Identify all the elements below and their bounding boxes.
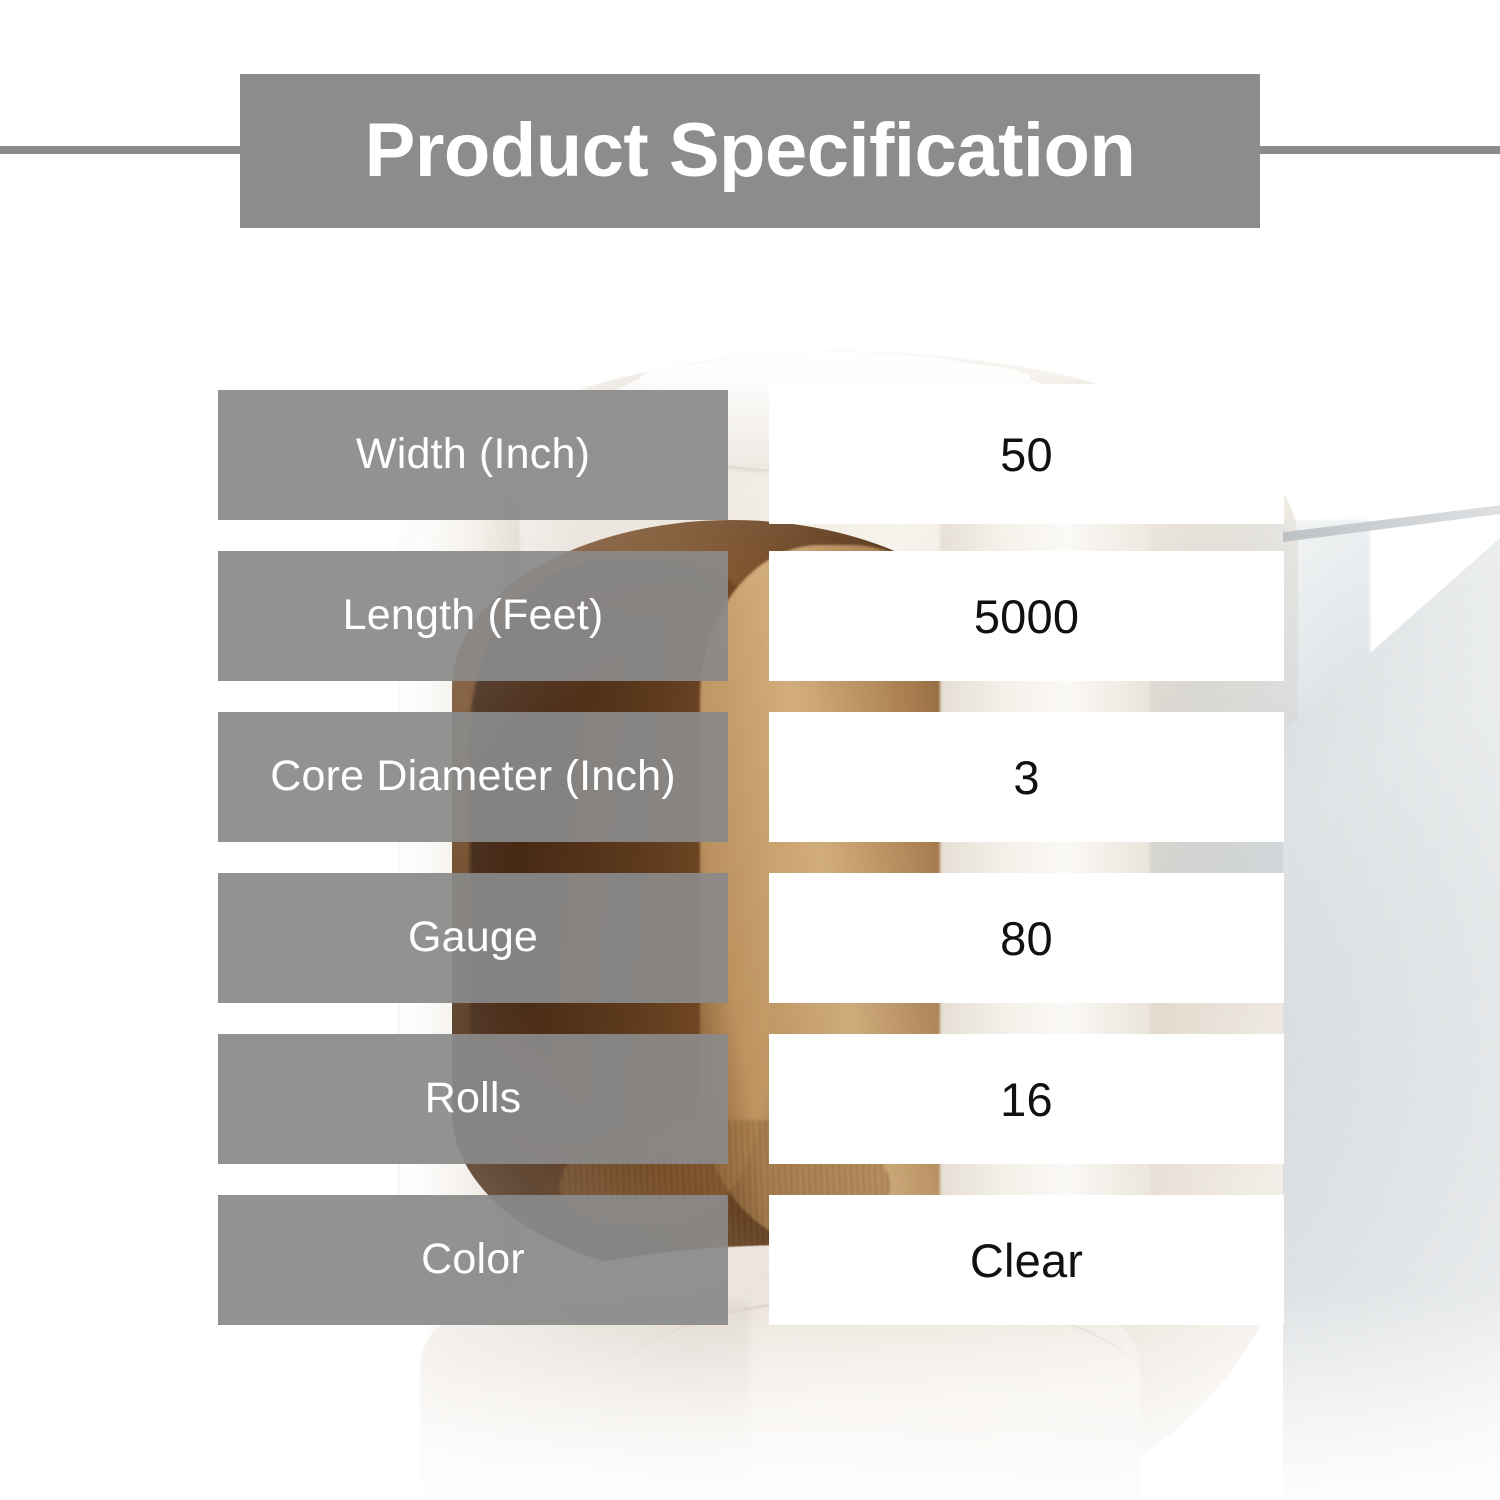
spec-value-cell: 16 [769,1034,1284,1164]
spec-value-cell: 50 [769,384,1284,524]
table-row: Length (Feet) 5000 [0,551,1500,681]
spec-label-text: Gauge [408,916,538,960]
spec-label-text: Core Diameter (Inch) [270,755,675,799]
spec-value-cell: Clear [769,1195,1284,1325]
spec-value-text: 16 [1000,1076,1053,1123]
specification-table: Width (Inch) 50 Length (Feet) 5000 Core … [0,0,1500,1500]
spec-label-text: Rolls [425,1077,522,1121]
spec-value-cell: 5000 [769,551,1284,681]
spec-value-text: 5000 [974,593,1079,640]
spec-label-cell: Color [218,1195,728,1325]
spec-label-cell: Gauge [218,873,728,1003]
table-row: Gauge 80 [0,873,1500,1003]
spec-value-text: 50 [1000,431,1053,478]
spec-label-text: Length (Feet) [343,594,604,638]
spec-label-cell: Rolls [218,1034,728,1164]
spec-label-cell: Core Diameter (Inch) [218,712,728,842]
spec-label-cell: Width (Inch) [218,390,728,520]
spec-label-text: Color [421,1238,525,1282]
table-row: Width (Inch) 50 [0,390,1500,520]
spec-label-cell: Length (Feet) [218,551,728,681]
spec-value-cell: 80 [769,873,1284,1003]
table-row: Color Clear [0,1195,1500,1325]
spec-value-text: 3 [1013,754,1039,801]
spec-value-text: Clear [970,1237,1083,1284]
spec-value-text: 80 [1000,915,1053,962]
table-row: Rolls 16 [0,1034,1500,1164]
product-specification-infographic: Product Specification Width (Inch) 50 Le… [0,0,1500,1500]
spec-label-text: Width (Inch) [356,433,590,477]
table-row: Core Diameter (Inch) 3 [0,712,1500,842]
spec-value-cell: 3 [769,712,1284,842]
